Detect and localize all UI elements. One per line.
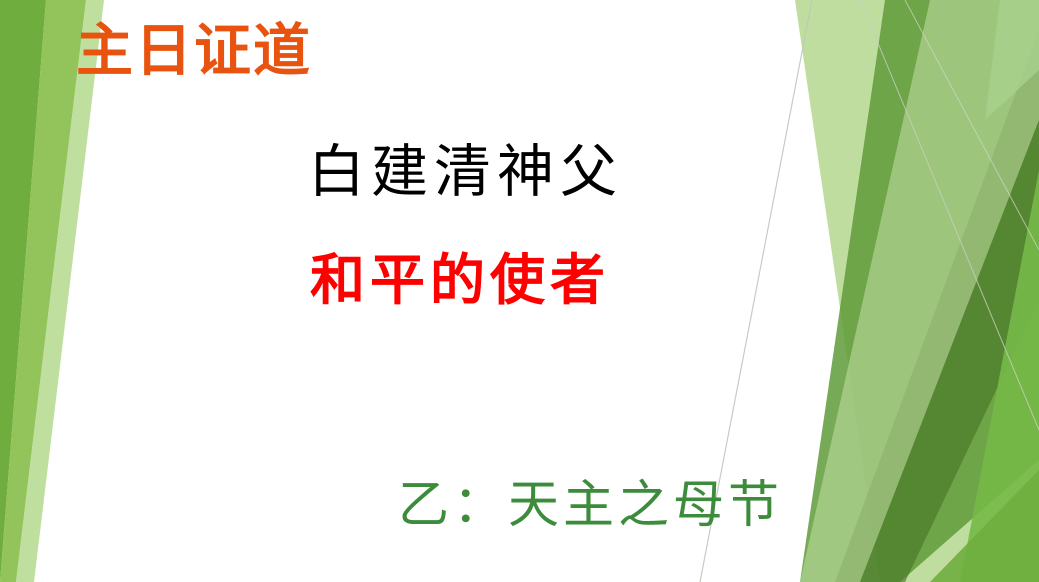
speaker-name: 白建清神父	[308, 144, 623, 201]
presentation-slide: 主日证道 白建清神父 和平的使者 乙：天主之母节	[0, 0, 1039, 582]
slide-title: 主日证道	[76, 22, 312, 79]
feast-day-label: 乙：天主之母节	[398, 480, 783, 531]
sermon-theme: 和平的使者	[310, 252, 610, 307]
